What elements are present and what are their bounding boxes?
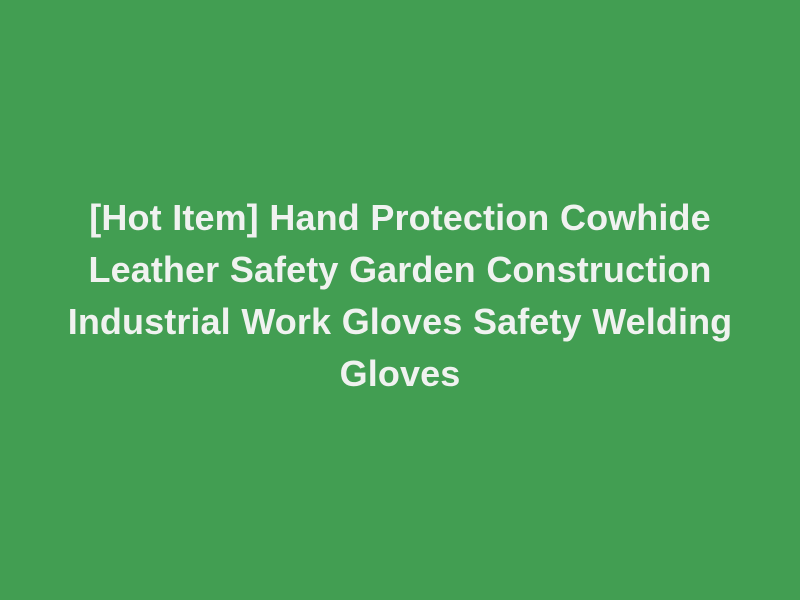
product-placeholder-card: [Hot Item] Hand Protection Cowhide Leath… xyxy=(0,0,800,600)
page-title: [Hot Item] Hand Protection Cowhide Leath… xyxy=(44,192,756,400)
title-block: [Hot Item] Hand Protection Cowhide Leath… xyxy=(44,192,756,408)
